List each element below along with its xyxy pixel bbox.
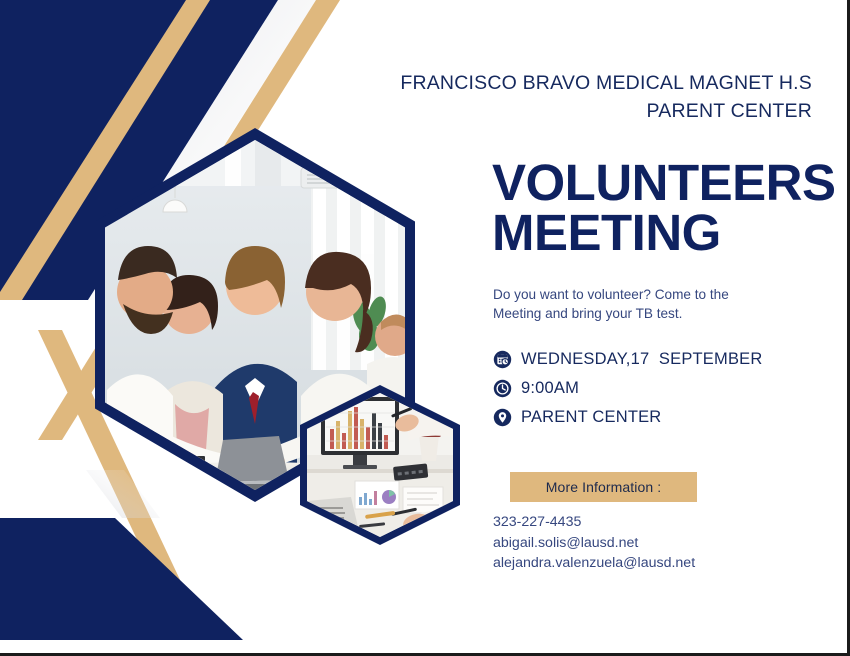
page-title: VOLUNTEERS MEETING — [492, 158, 812, 258]
more-information-banner: More Information : — [510, 472, 697, 502]
calendar-icon — [493, 350, 512, 369]
detail-row-time: 9:00AM — [493, 374, 803, 402]
detail-location-text: PARENT CENTER — [521, 408, 661, 427]
description-text: Do you want to volunteer? Come to the Me… — [493, 285, 755, 324]
detail-row-date: WEDNESDAY,17 SEPTEMBER — [493, 345, 803, 373]
contact-list: 323-227-4435 abigail.solis@lausd.net ale… — [493, 512, 793, 574]
clock-icon — [493, 379, 512, 398]
contact-email-2[interactable]: alejandra.valenzuela@lausd.net — [493, 553, 793, 574]
organization-name: FRANCISCO BRAVO MEDICAL MAGNET H.S PAREN… — [392, 70, 812, 125]
detail-date-text: WEDNESDAY,17 SEPTEMBER — [521, 350, 762, 369]
contact-phone[interactable]: 323-227-4435 — [493, 512, 793, 533]
organization-line-2: PARENT CENTER — [392, 98, 812, 126]
content-column: FRANCISCO BRAVO MEDICAL MAGNET H.S PAREN… — [492, 0, 812, 656]
organization-line-1: FRANCISCO BRAVO MEDICAL MAGNET H.S — [400, 72, 812, 94]
event-details-list: WEDNESDAY,17 SEPTEMBER 9:00AM — [493, 345, 803, 432]
navy-triangle-bottom-left — [0, 518, 243, 640]
poster-canvas: FRANCISCO BRAVO MEDICAL MAGNET H.S PAREN… — [0, 0, 850, 656]
detail-row-location: PARENT CENTER — [493, 403, 803, 431]
more-information-label: More Information : — [546, 479, 661, 495]
page-title-line-2: MEETING — [492, 208, 812, 258]
triangle-shadow-bottom — [86, 470, 160, 518]
contact-email-1[interactable]: abigail.solis@lausd.net — [493, 533, 793, 554]
location-pin-icon — [493, 408, 512, 427]
detail-time-text: 9:00AM — [521, 379, 579, 398]
page-title-line-1: VOLUNTEERS — [492, 154, 836, 211]
